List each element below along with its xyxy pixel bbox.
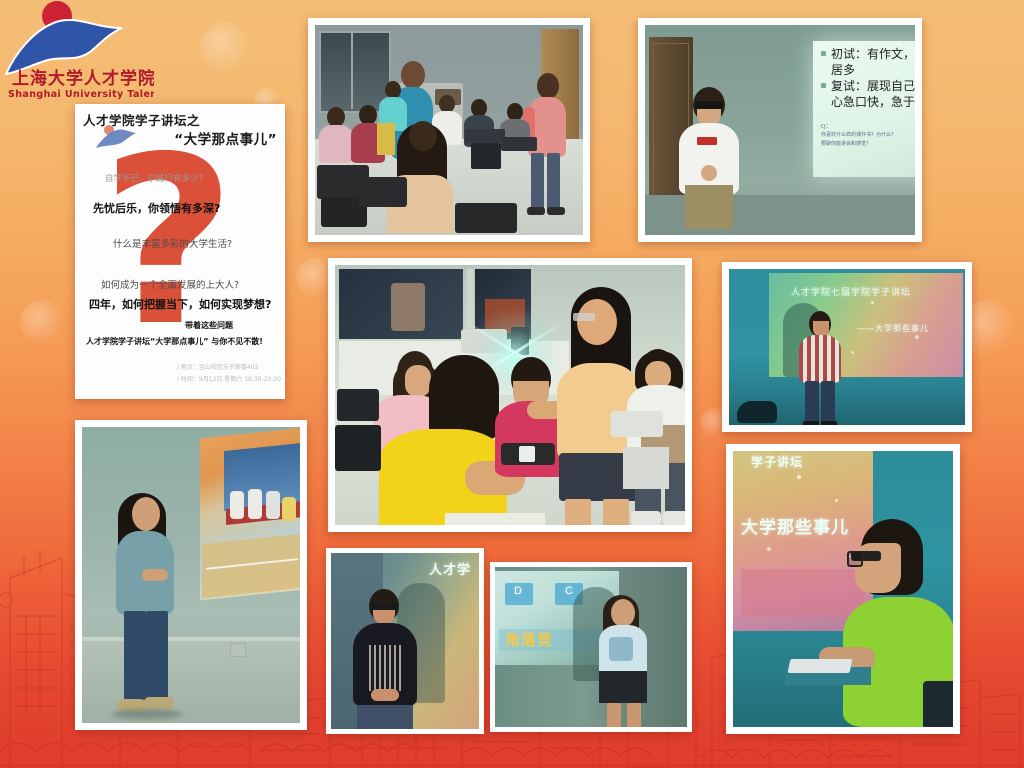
slide-text-talent: 人才学 xyxy=(429,559,471,578)
slide-subtitle-college-stories: ——大学那些事儿 xyxy=(857,323,929,334)
poster-footer-time: / 时间：9月12日 星期六 18:30-20:30 xyxy=(177,374,281,383)
poster-line-3: 什么是丰富多彩的大学生活? xyxy=(113,236,232,250)
slide-line-q: Q： xyxy=(821,121,831,130)
slide-text-college-stories: 大学那些事儿 xyxy=(741,513,849,538)
poster-line-1: 自学不已，尔践行有多少? xyxy=(105,172,203,184)
slide-text-corner-contest: 角落竞 xyxy=(505,629,553,650)
slide-line-q2: 要聊你能讲会和感觉？ xyxy=(821,140,871,147)
photo-speaker-teal-screen[interactable]: 人才学院七届学院学子讲坛 ——大学那些事儿 xyxy=(722,262,972,432)
slide-line-2: 居多 xyxy=(831,61,855,78)
collage-slide: 上海大学人才学院 Shanghai University Talent Inst… xyxy=(0,0,1024,768)
photo-audience-green-tshirt[interactable]: 学子讲坛 大学那些事儿 xyxy=(726,444,960,734)
poster-line-6: 带着这些问题 xyxy=(185,320,233,331)
svg-text:上海大学人才学院: 上海大学人才学院 xyxy=(12,68,154,89)
poster-title-line1: 人才学院学子讲坛之 xyxy=(83,110,200,129)
slide-line-3: 复试：展现自己， xyxy=(831,77,915,94)
bokeh-1 xyxy=(200,22,252,74)
slide-line-q1: 你喜欢什么样的课外书？为什么？ xyxy=(821,131,896,138)
slide-line-1: 初试：有作文， xyxy=(831,45,915,62)
poster-line-4: 如何成为一个全面发展的上大人? xyxy=(101,277,239,291)
slide-title-talent-forum: 人才学院七届学院学子讲坛 xyxy=(791,285,911,298)
photo-speaker-black-tshirt[interactable]: 人才学 xyxy=(326,548,484,734)
poster-line-7: 人才学院学子讲坛“大学那点事儿” 与你不见不散! xyxy=(86,336,263,347)
slide-label-c: C xyxy=(565,585,574,597)
poster-line-5: 四年，如何把握当下，如何实现梦想? xyxy=(89,296,271,312)
photo-classroom-discussion[interactable] xyxy=(308,18,590,242)
photo-girl-with-dc-slide[interactable]: D C 角落竞 xyxy=(490,562,692,732)
slide-text-student-forum: 学子讲坛 xyxy=(751,453,803,470)
svg-text:Shanghai University Talent Ins: Shanghai University Talent Institute xyxy=(8,89,154,100)
slide-label-d: D xyxy=(514,585,523,597)
event-poster[interactable]: ? 人才学院学子讲坛之 “大学那点事儿” 自学不已，尔践行有多少? 先忧后乐，你… xyxy=(75,104,285,399)
photo-group-activity[interactable] xyxy=(328,258,692,532)
slide-line-4: 心急口快，急于 xyxy=(831,93,915,110)
photo-presenter-with-slide[interactable]: 初试：有作文， 居多 复试：展现自己， 心急口快，急于 Q： 你喜欢什么样的课外… xyxy=(638,18,922,242)
poster-title-line2: “大学那点事儿” xyxy=(174,128,277,148)
bokeh-9 xyxy=(20,300,64,344)
poster-footer-location: / 地点：宝山校区乐乎新楼402 xyxy=(177,362,258,371)
poster-line-2: 先忧后乐，你领悟有多深? xyxy=(93,200,220,216)
photo-girl-presenting[interactable] xyxy=(75,420,307,730)
shanghai-university-talent-institute-logo: 上海大学人才学院 Shanghai University Talent Inst… xyxy=(4,0,154,104)
